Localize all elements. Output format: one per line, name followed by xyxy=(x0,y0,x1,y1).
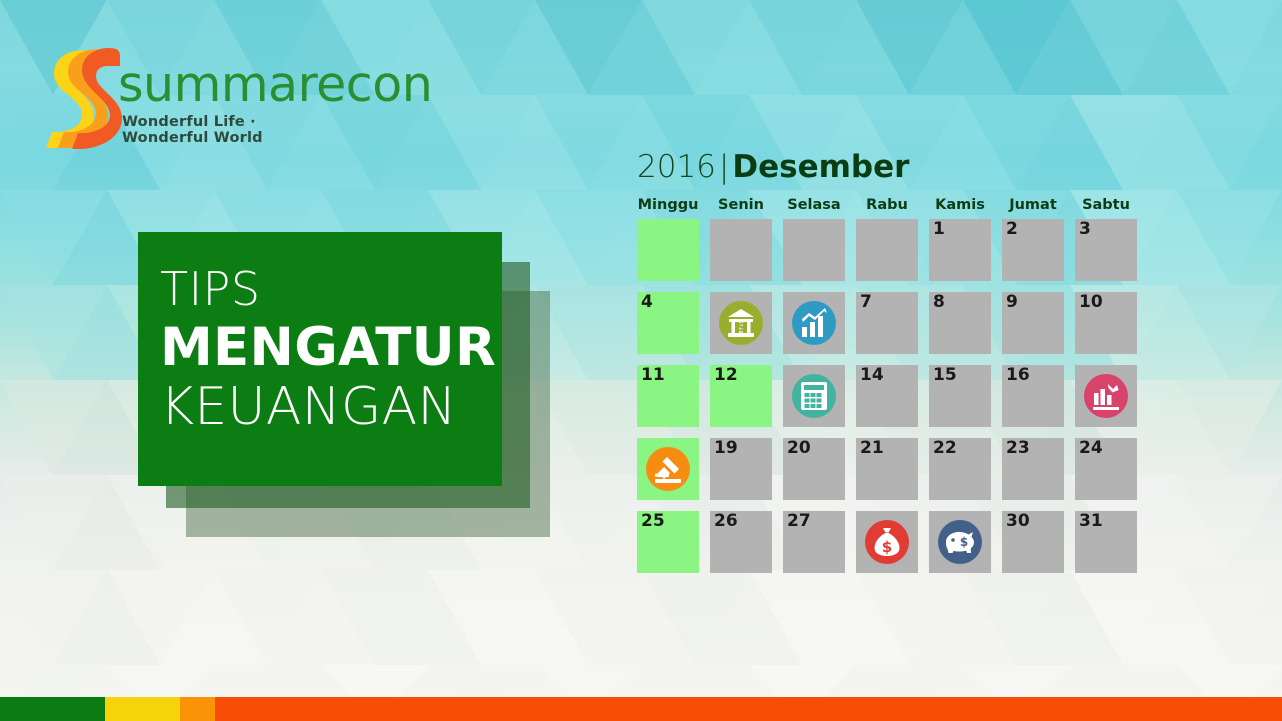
calendar-day-cell-7[interactable]: 7 xyxy=(856,292,918,354)
calendar-dayname-selasa: Selasa xyxy=(783,197,845,213)
calendar-day-cell-24[interactable]: 24 xyxy=(1075,438,1137,500)
calendar-day-cell-8[interactable]: 8 xyxy=(929,292,991,354)
calendar-day-number: 24 xyxy=(1079,439,1103,459)
calendar-day-cell-30[interactable]: 30 xyxy=(1002,511,1064,573)
calendar-day-number: 9 xyxy=(1006,293,1018,313)
title-card: TIPS MENGATUR KEUANGAN xyxy=(138,232,502,486)
calendar-day-number: 12 xyxy=(714,366,738,386)
calendar-day-cell-21[interactable]: 21 xyxy=(856,438,918,500)
calendar-dayname-jumat: Jumat xyxy=(1002,197,1064,213)
calendar-day-cell-1[interactable]: 1 xyxy=(929,219,991,281)
calendar-day-cell[interactable]: $ xyxy=(929,511,991,573)
growth-bar-chart-icon[interactable] xyxy=(791,300,837,346)
calendar-day-cell-14[interactable]: 14 xyxy=(856,365,918,427)
gavel-icon[interactable] xyxy=(645,446,691,492)
calendar-day-number: 21 xyxy=(860,439,884,459)
calendar-day-cell[interactable] xyxy=(637,219,699,281)
calendar-day-cell-15[interactable]: 15 xyxy=(929,365,991,427)
calendar-day-number: 8 xyxy=(933,293,945,313)
svg-text:$: $ xyxy=(960,535,968,549)
calendar-day-cell-3[interactable]: 3 xyxy=(1075,219,1137,281)
calendar-day-cell-11[interactable]: 11 xyxy=(637,365,699,427)
calendar-day-cell[interactable] xyxy=(710,219,772,281)
title-line-tips: TIPS xyxy=(160,266,502,313)
summarecon-s-wave-logo-icon xyxy=(38,44,124,169)
calendar-day-number: 26 xyxy=(714,512,738,532)
calendar-day-cell-12[interactable]: 12 xyxy=(710,365,772,427)
calendar-day-cell-27[interactable]: 27 xyxy=(783,511,845,573)
calendar-dayname-senin: Senin xyxy=(710,197,772,213)
slide-canvas: summarecon Wonderful Life · Wonderful Wo… xyxy=(0,0,1282,721)
calendar-day-cell-22[interactable]: 22 xyxy=(929,438,991,500)
calendar-month: Desember xyxy=(732,149,909,185)
title-line-mengatur: MENGATUR xyxy=(160,321,502,375)
calendar-day-number: 25 xyxy=(641,512,665,532)
calendar-day-number: 30 xyxy=(1006,512,1030,532)
svg-text:$: $ xyxy=(737,320,745,334)
calendar-day-cell-25[interactable]: 25 xyxy=(637,511,699,573)
summarecon-logo: summarecon Wonderful Life · Wonderful Wo… xyxy=(38,44,338,172)
calendar-day-cell-2[interactable]: 2 xyxy=(1002,219,1064,281)
calendar-day-cell-10[interactable]: 10 xyxy=(1075,292,1137,354)
bottom-bar-segment-orange xyxy=(180,697,215,721)
declining-bar-chart-icon[interactable] xyxy=(1083,373,1129,419)
calendar-day-cell[interactable] xyxy=(783,292,845,354)
calendar-day-number: 22 xyxy=(933,439,957,459)
calendar-day-cell[interactable]: $ xyxy=(710,292,772,354)
calendar-day-number: 7 xyxy=(860,293,872,313)
calendar-day-number: 14 xyxy=(860,366,884,386)
calendar-day-number: 10 xyxy=(1079,293,1103,313)
calendar-day-cell[interactable]: $ xyxy=(856,511,918,573)
bottom-bar-segment-green xyxy=(0,697,105,721)
calendar-day-cell[interactable] xyxy=(1075,365,1137,427)
calendar-grid: 1234$789101112141516192021222324252627$$… xyxy=(637,219,1147,573)
calendar-day-number: 15 xyxy=(933,366,957,386)
calendar-day-header-row: MingguSeninSelasaRabuKamisJumatSabtu xyxy=(637,197,1147,213)
calendar-day-cell[interactable] xyxy=(637,438,699,500)
calendar-dayname-sabtu: Sabtu xyxy=(1075,197,1137,213)
bottom-bar-segment-yellow xyxy=(105,697,180,721)
calendar-day-number: 1 xyxy=(933,220,945,240)
piggy-bank-icon[interactable]: $ xyxy=(937,519,983,565)
calendar-title-separator: | xyxy=(719,149,729,185)
calendar-day-cell-4[interactable]: 4 xyxy=(637,292,699,354)
money-bag-icon[interactable]: $ xyxy=(864,519,910,565)
calendar-day-cell-26[interactable]: 26 xyxy=(710,511,772,573)
calendar-day-cell-31[interactable]: 31 xyxy=(1075,511,1137,573)
bottom-color-bar xyxy=(0,697,1282,721)
title-line-keuangan: KEUANGAN xyxy=(160,381,502,434)
calendar-day-cell-23[interactable]: 23 xyxy=(1002,438,1064,500)
bottom-bar-segment-orange-red xyxy=(215,697,1282,721)
bank-dollar-icon[interactable]: $ xyxy=(718,300,764,346)
calendar-day-number: 19 xyxy=(714,439,738,459)
calendar: 2016|Desember MingguSeninSelasaRabuKamis… xyxy=(637,152,1147,573)
brand-name: summarecon xyxy=(118,60,432,109)
calendar-day-cell-20[interactable]: 20 xyxy=(783,438,845,500)
calendar-title: 2016|Desember xyxy=(637,152,1147,183)
calculator-icon[interactable] xyxy=(791,373,837,419)
calendar-dayname-minggu: Minggu xyxy=(637,197,699,213)
calendar-day-number: 27 xyxy=(787,512,811,532)
calendar-day-number: 11 xyxy=(641,366,665,386)
calendar-day-number: 20 xyxy=(787,439,811,459)
calendar-dayname-rabu: Rabu xyxy=(856,197,918,213)
calendar-day-cell-16[interactable]: 16 xyxy=(1002,365,1064,427)
calendar-year: 2016 xyxy=(637,149,716,185)
calendar-day-number: 2 xyxy=(1006,220,1018,240)
calendar-day-cell[interactable] xyxy=(783,219,845,281)
calendar-day-number: 16 xyxy=(1006,366,1030,386)
brand-tagline: Wonderful Life · Wonderful World xyxy=(122,114,338,146)
calendar-day-cell-19[interactable]: 19 xyxy=(710,438,772,500)
calendar-day-cell[interactable] xyxy=(856,219,918,281)
calendar-dayname-kamis: Kamis xyxy=(929,197,991,213)
calendar-day-number: 31 xyxy=(1079,512,1103,532)
calendar-day-cell[interactable] xyxy=(783,365,845,427)
calendar-day-number: 3 xyxy=(1079,220,1091,240)
calendar-day-cell-9[interactable]: 9 xyxy=(1002,292,1064,354)
calendar-day-number: 23 xyxy=(1006,439,1030,459)
calendar-day-number: 4 xyxy=(641,293,653,313)
svg-text:$: $ xyxy=(882,538,892,556)
